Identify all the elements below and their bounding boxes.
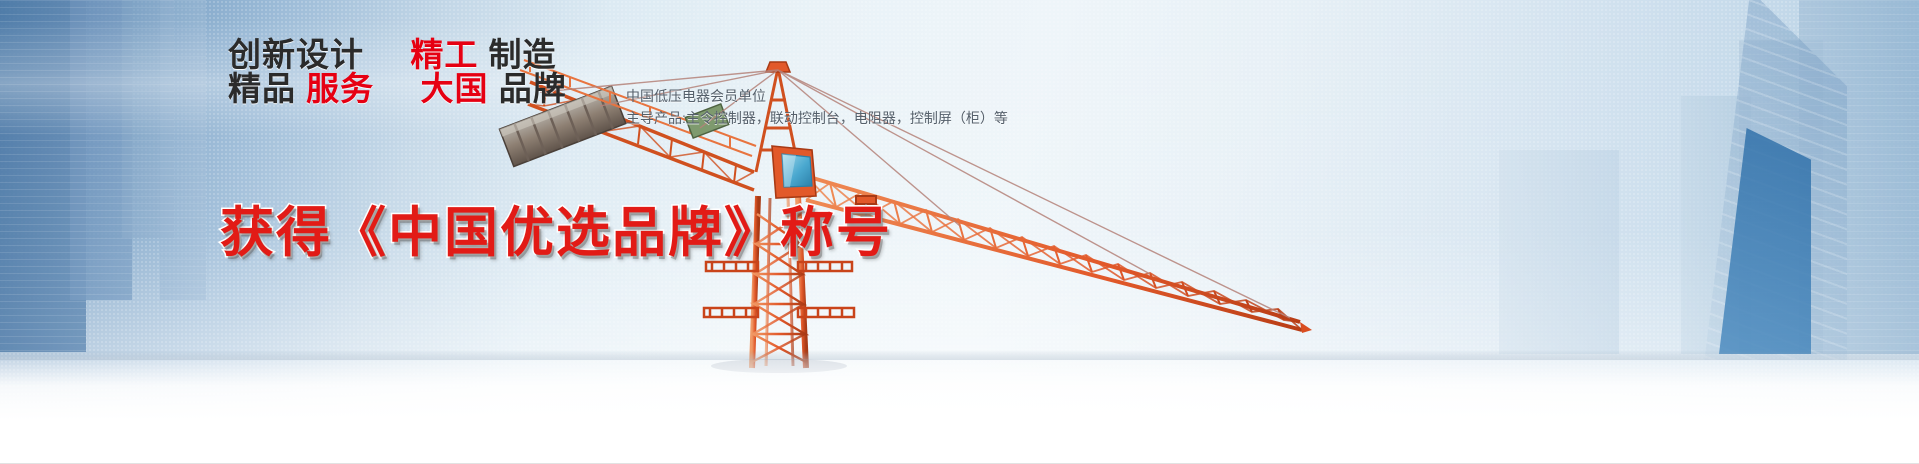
headline-award-title: 获得《中国优选品牌》称号 xyxy=(220,188,892,267)
membership-line: 中国低压电器会员单位 xyxy=(626,86,1008,108)
slogan-line-2: 精品 服务 大国 品牌 xyxy=(228,72,567,106)
product-info-block: 中国低压电器会员单位 主导产品:主令控制器，联动控制台，电阻器，控制屏（柜）等 xyxy=(626,86,1008,129)
slogan-line2-part2: 服务 xyxy=(306,70,374,107)
slogan-line2-part4: 品牌 xyxy=(499,70,567,107)
slogan-line-1: 创新设计 精工 制造 xyxy=(228,38,567,72)
promo-banner: 创新设计 精工 制造 精品 服务 大国 品牌 中国低压电器会员单位 主导产品:主… xyxy=(0,0,1919,464)
slogan-line1-part3: 制造 xyxy=(489,36,557,73)
slogan-line2-part3: 大国 xyxy=(421,70,489,107)
ground-white-fade xyxy=(0,352,1919,464)
slogan-block: 创新设计 精工 制造 精品 服务 大国 品牌 xyxy=(228,38,567,107)
slogan-line1-part1: 创新设计 xyxy=(228,36,364,73)
main-products-line: 主导产品:主令控制器，联动控制台，电阻器，控制屏（柜）等 xyxy=(626,108,1008,130)
slogan-line2-part1: 精品 xyxy=(228,70,296,107)
slogan-line1-part2: 精工 xyxy=(410,36,478,73)
